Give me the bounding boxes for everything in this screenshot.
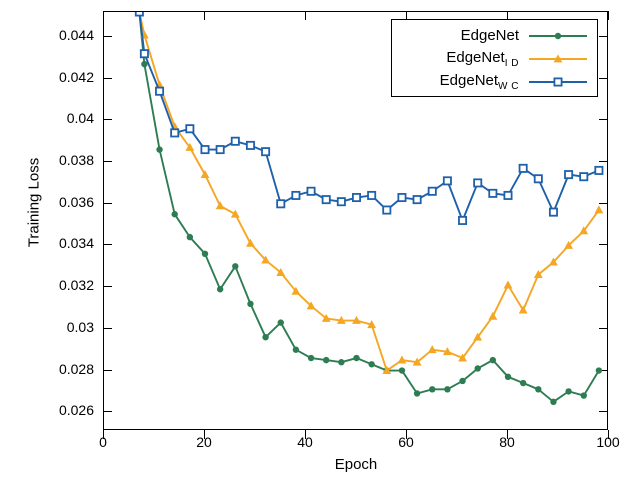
legend-label: EdgeNetW C <box>440 72 519 92</box>
data-point-marker <box>278 319 284 325</box>
data-point-marker <box>398 194 405 201</box>
y-tick-label: 0.034 <box>0 235 103 251</box>
legend-marker-square-open <box>527 74 589 90</box>
data-point-marker <box>277 200 284 207</box>
data-point-marker <box>141 50 148 57</box>
data-point-marker <box>368 361 374 367</box>
data-point-marker <box>202 251 208 257</box>
data-point-marker <box>136 12 143 16</box>
y-tick-label: 0.044 <box>0 27 103 43</box>
x-tick-mark <box>305 430 306 439</box>
data-point-marker <box>414 196 421 203</box>
y-tick-label: 0.032 <box>0 277 103 293</box>
data-point-marker <box>489 190 496 197</box>
data-point-marker <box>247 301 253 307</box>
data-point-marker <box>262 148 269 155</box>
data-point-marker <box>504 192 511 199</box>
legend-label: EdgeNet <box>461 27 519 44</box>
data-point-marker <box>201 170 210 178</box>
data-point-marker <box>323 196 330 203</box>
data-point-marker <box>490 357 496 363</box>
data-point-marker <box>156 88 163 95</box>
data-point-marker <box>292 192 299 199</box>
data-point-marker <box>550 209 557 216</box>
data-point-marker <box>308 355 314 361</box>
x-axis-label: Epoch <box>103 456 609 473</box>
data-point-marker <box>595 167 602 174</box>
data-point-marker <box>231 210 240 218</box>
data-point-marker <box>535 175 542 182</box>
data-point-marker <box>505 374 511 380</box>
data-point-marker <box>581 392 587 398</box>
x-tick-mark <box>204 430 205 439</box>
data-point-marker <box>353 194 360 201</box>
data-point-marker <box>353 355 359 361</box>
data-point-marker <box>323 357 329 363</box>
legend-marker-triangle-filled <box>527 51 589 67</box>
data-point-marker <box>520 380 526 386</box>
data-point-marker <box>186 125 193 132</box>
data-point-marker <box>565 388 571 394</box>
legend-marker-circle-filled <box>527 28 589 44</box>
y-tick-label: 0.038 <box>0 152 103 168</box>
data-point-marker <box>504 280 513 288</box>
data-point-marker <box>565 171 572 178</box>
data-point-marker <box>398 356 407 364</box>
data-point-marker <box>172 211 178 217</box>
data-point-marker <box>488 312 497 320</box>
data-point-marker <box>459 217 466 224</box>
data-point-marker <box>459 378 465 384</box>
chart-legend: EdgeNetEdgeNetI DEdgeNetW C <box>391 19 598 97</box>
data-point-marker <box>232 263 238 269</box>
data-point-marker <box>247 142 254 149</box>
data-point-marker <box>187 234 193 240</box>
data-point-marker <box>141 61 147 67</box>
y-tick-label: 0.03 <box>0 319 103 335</box>
data-point-marker <box>399 367 405 373</box>
data-point-marker <box>475 365 481 371</box>
data-point-marker <box>217 286 223 292</box>
data-point-marker <box>429 188 436 195</box>
data-point-marker <box>338 359 344 365</box>
legend-item[interactable]: EdgeNet <box>398 24 589 47</box>
data-point-marker <box>595 205 604 213</box>
data-point-marker <box>383 206 390 213</box>
data-point-marker <box>580 173 587 180</box>
y-tick-label: 0.036 <box>0 194 103 210</box>
legend-item[interactable]: EdgeNetI D <box>398 47 589 70</box>
data-point-marker <box>414 390 420 396</box>
data-point-marker <box>535 386 541 392</box>
data-point-marker <box>246 239 255 247</box>
data-point-marker <box>444 386 450 392</box>
data-point-marker <box>428 345 437 353</box>
data-point-marker <box>156 146 162 152</box>
data-point-marker <box>550 399 556 405</box>
data-point-marker <box>429 386 435 392</box>
data-point-marker <box>520 165 527 172</box>
data-point-marker <box>307 188 314 195</box>
x-tick-mark <box>608 430 609 439</box>
data-point-marker <box>368 192 375 199</box>
x-tick-mark <box>406 430 407 439</box>
data-point-marker <box>293 347 299 353</box>
data-point-marker <box>232 138 239 145</box>
y-tick-label: 0.042 <box>0 69 103 85</box>
data-point-marker <box>201 146 208 153</box>
data-point-marker <box>216 201 225 209</box>
data-point-marker <box>338 198 345 205</box>
x-tick-mark <box>507 430 508 439</box>
data-point-marker <box>171 129 178 136</box>
legend-item[interactable]: EdgeNetW C <box>398 70 589 93</box>
x-tick-mark <box>103 430 104 439</box>
data-point-marker <box>596 367 602 373</box>
data-point-marker <box>262 334 268 340</box>
legend-label: EdgeNetI D <box>446 49 519 69</box>
y-tick-label: 0.04 <box>0 110 103 126</box>
chart-figure: Training Loss Epoch 0.0260.0280.030.0320… <box>0 0 640 480</box>
y-tick-label: 0.026 <box>0 402 103 418</box>
data-point-marker <box>444 177 451 184</box>
y-tick-label: 0.028 <box>0 361 103 377</box>
data-point-marker <box>217 146 224 153</box>
data-point-marker <box>474 179 481 186</box>
